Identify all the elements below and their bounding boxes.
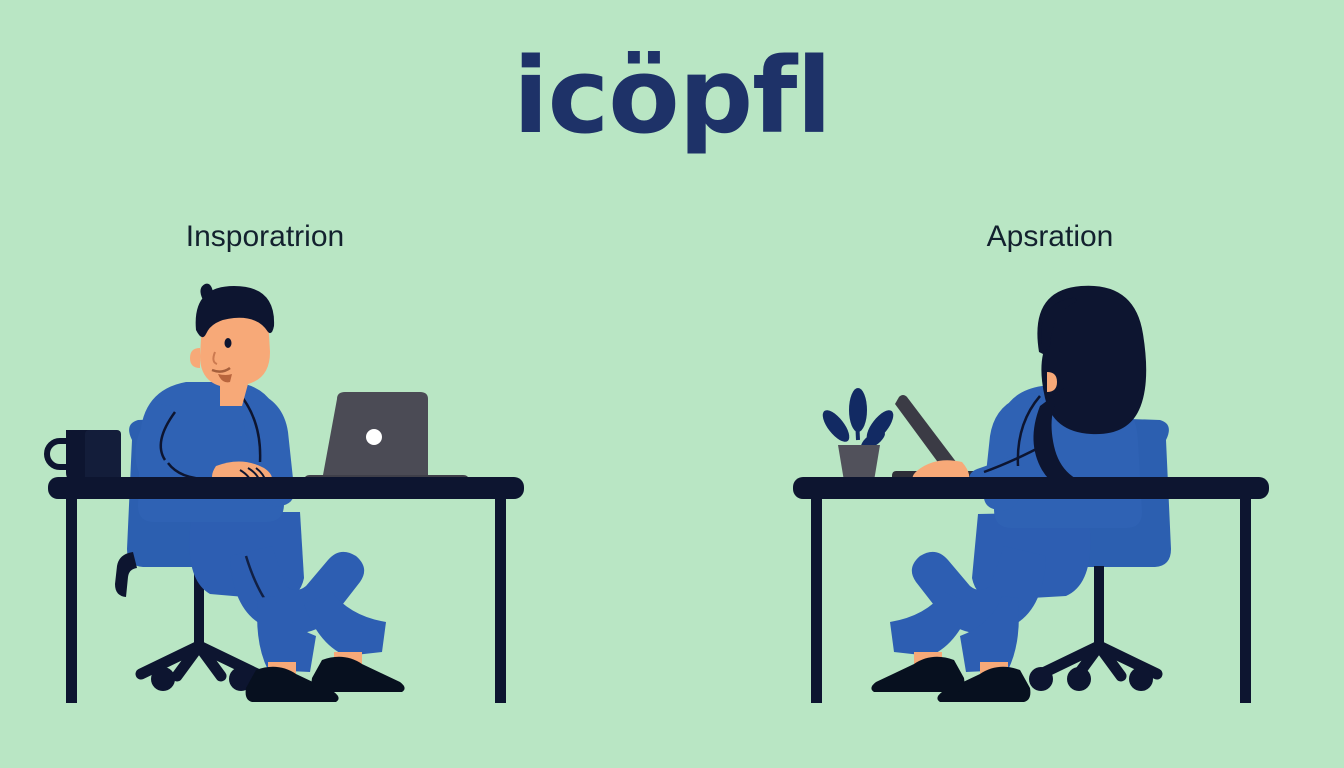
panel-label-right: Apsration bbox=[820, 219, 1280, 255]
laptop-logo-icon bbox=[366, 429, 382, 445]
illustration-canvas: icöpfl Insporatrion Apsration bbox=[0, 0, 1344, 768]
left-figure-torso bbox=[135, 382, 294, 522]
panel-label-left: Insporatrion bbox=[40, 219, 490, 255]
page-title: icöpfl bbox=[0, 44, 1344, 148]
